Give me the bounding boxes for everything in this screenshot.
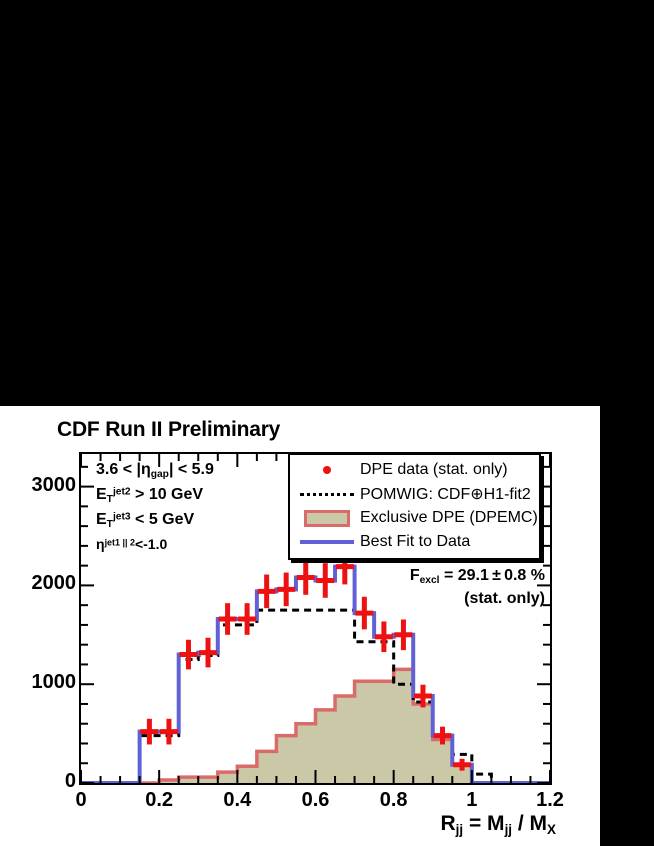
page-title: CDF Run II Preliminary [57, 418, 280, 442]
dashed-line-icon [300, 493, 354, 496]
legend-key-filled-box-icon [294, 510, 360, 527]
x-tick-label: 0 [41, 789, 121, 812]
legend-key-solid-line-icon [294, 540, 360, 544]
legend: DPE data (stat. only)POMWIG: CDF⊕H1-fit2… [288, 453, 541, 560]
x-tick-label: 0.2 [119, 789, 199, 812]
legend-item: Exclusive DPE (DPEMC) [290, 506, 539, 530]
x-tick-label: 1.2 [510, 789, 590, 812]
y-tick-label: 1000 [4, 671, 76, 694]
x-tick-label: 0.8 [354, 789, 434, 812]
x-tick-label: 0.6 [276, 789, 356, 812]
fexcl-note-line: (stat. only) [370, 588, 545, 610]
exclusive-fraction-annotation: Fexcl = 29.1 ± 0.8 % (stat. only) [370, 565, 545, 609]
legend-key-dashed-line-icon [294, 493, 360, 496]
solid-line-icon [300, 540, 354, 544]
y-tick-label: 2000 [4, 572, 76, 595]
x-axis-title: Rjj = Mjj / MX [440, 812, 556, 837]
legend-label: Best Fit to Data [360, 533, 470, 551]
selection-cuts-text: 3.6 < |ηgap| < 5.9ETjet2 > 10 GeVETjet3 … [96, 462, 214, 558]
legend-label: POMWIG: CDF⊕H1-fit2 [360, 484, 531, 504]
cut-line: ETjet3 < 5 GeV [96, 512, 214, 530]
cut-line: 3.6 < |ηgap| < 5.9 [96, 462, 214, 480]
fexcl-value-line: Fexcl = 29.1 ± 0.8 % [370, 565, 545, 588]
filled-box-icon [304, 510, 350, 527]
x-tick-label: 1 [432, 789, 512, 812]
cut-line: ηjet1 || 2<-1.0 [96, 537, 214, 551]
legend-item: DPE data (stat. only) [290, 458, 539, 482]
legend-item: Best Fit to Data [290, 530, 539, 554]
y-axis-tick-labels: 0100020003000 [0, 0, 76, 846]
legend-label: DPE data (stat. only) [360, 461, 508, 479]
cut-line: ETjet2 > 10 GeV [96, 487, 214, 505]
legend-key-marker-dot-icon [294, 466, 360, 474]
legend-item: POMWIG: CDF⊕H1-fit2 [290, 482, 539, 506]
y-tick-label: 3000 [4, 474, 76, 497]
screenshot-root: CDF Run II Preliminary Arbitrary 0100020… [0, 0, 654, 846]
legend-label: Exclusive DPE (DPEMC) [360, 509, 538, 527]
x-tick-label: 0.4 [197, 789, 277, 812]
marker-dot-icon [323, 466, 331, 474]
